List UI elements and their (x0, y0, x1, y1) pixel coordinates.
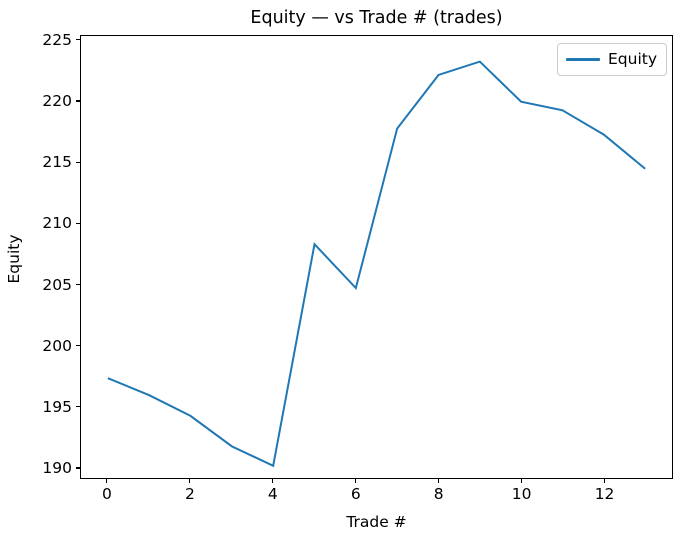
x-tick-label: 10 (502, 486, 542, 503)
x-tick-label: 8 (419, 486, 459, 503)
x-tick-mark (521, 479, 522, 483)
y-tick-label: 215 (12, 154, 72, 170)
plot-canvas (81, 36, 672, 478)
plot-area (80, 35, 673, 479)
chart-legend[interactable]: Equity (557, 43, 667, 76)
x-axis-label: Trade # (80, 513, 673, 531)
chart-title: Equity — vs Trade # (trades) (80, 8, 673, 29)
chart-figure: Equity — vs Trade # (trades) Equity Trad… (0, 0, 687, 546)
x-tick-label: 4 (253, 486, 293, 503)
x-tick-label: 0 (87, 486, 127, 503)
y-tick-label: 210 (12, 215, 72, 231)
y-tick-label: 195 (12, 399, 72, 415)
x-tick-label: 12 (585, 486, 625, 503)
x-tick-label: 2 (170, 486, 210, 503)
y-tick-label: 205 (12, 277, 72, 293)
x-tick-mark (106, 479, 107, 483)
x-tick-mark (604, 479, 605, 483)
legend-label-equity: Equity (608, 51, 657, 68)
y-axis-label: Equity (5, 189, 23, 329)
x-tick-label: 6 (336, 486, 376, 503)
y-tick-label: 220 (12, 93, 72, 109)
line-series-equity (108, 62, 645, 466)
x-tick-mark (189, 479, 190, 483)
legend-entry-equity: Equity (566, 51, 658, 68)
y-tick-label: 200 (12, 338, 72, 354)
legend-line-swatch-icon (566, 58, 600, 60)
y-tick-label: 190 (12, 460, 72, 476)
x-tick-mark (438, 479, 439, 483)
x-tick-mark (355, 479, 356, 483)
x-tick-mark (272, 479, 273, 483)
y-tick-label: 225 (12, 32, 72, 48)
